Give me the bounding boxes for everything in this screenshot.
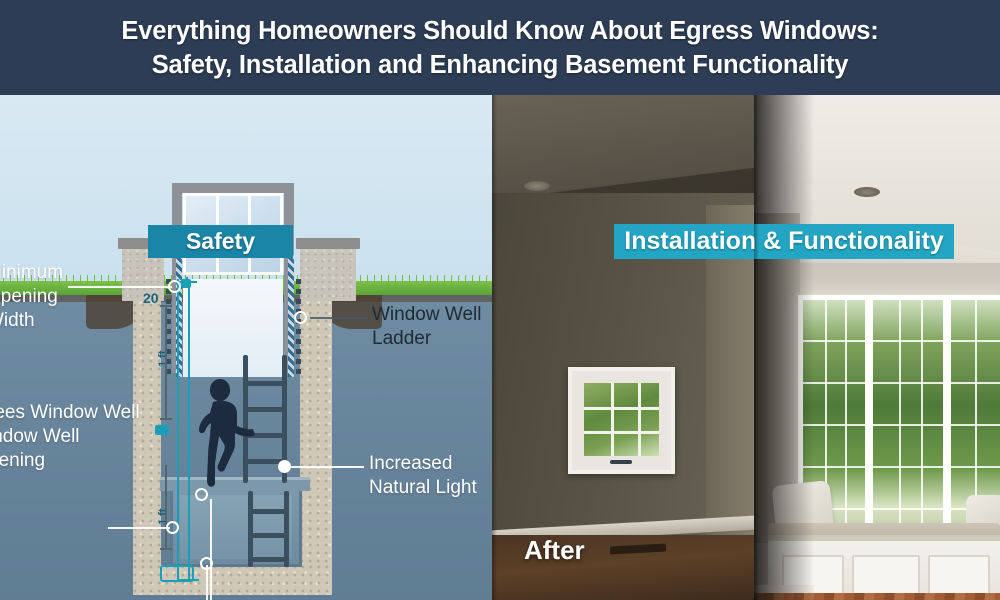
foundation-right	[300, 245, 356, 301]
leader-minimum-opening-width	[68, 286, 172, 288]
window-well-interior	[180, 495, 292, 559]
callout-dot-minimum-opening-width[interactable]	[168, 280, 181, 293]
callout-label-line-3: Width	[0, 309, 63, 333]
gray-dim-rule-lower	[165, 465, 167, 550]
ladder-rung-7	[248, 557, 289, 562]
leader-window-well-vertical	[210, 499, 212, 600]
window-grid-horizontal-1	[584, 407, 659, 410]
badge-installation-functionality: Installation & Functionality	[614, 224, 954, 259]
callout-increased-natural-light: Increased Natural Light	[369, 452, 477, 500]
recessed-light-icon-1	[854, 187, 880, 197]
window-grid-v-3	[899, 300, 901, 535]
leader-window-well-ladder	[310, 317, 368, 319]
leader-window-well-vertical-2	[206, 565, 208, 600]
window-header-beam	[172, 183, 294, 193]
gray-dim-cap-top	[160, 305, 172, 307]
callout-label-line-2: Ladder	[372, 327, 481, 351]
callout-dot-window-well-ladder[interactable]	[294, 311, 307, 324]
ladder-rung-5	[248, 509, 289, 514]
window-grid-v-2	[845, 300, 847, 535]
foundation-cap-right	[296, 238, 360, 249]
panel-divider-2	[754, 95, 759, 600]
callout-dot-window-well-opening[interactable]	[166, 521, 179, 534]
window-grid-vertical-1	[611, 383, 614, 456]
callout-label-line-2: indow Well	[0, 425, 140, 449]
gravel-right	[300, 295, 332, 595]
callout-label-line-1: rees Window Well	[0, 401, 140, 425]
dashed-edge-right	[296, 279, 301, 377]
window-latch-icon	[610, 460, 632, 464]
small-basement-window	[568, 367, 675, 474]
window-mullion-1	[865, 300, 873, 535]
callout-label-line-2: Opening	[0, 285, 63, 309]
callout-dot-window-well[interactable]	[195, 488, 208, 501]
caption-after: After	[524, 535, 585, 566]
dim-vertical-main	[177, 279, 179, 579]
window-grid-horizontal-2	[584, 431, 659, 434]
panels-container: 20 1 ft 1 ft	[0, 95, 1000, 600]
dim-label-height-upper: 1 ft	[157, 351, 169, 368]
infographic-root: Everything Homeowners Should Know About …	[0, 0, 1000, 600]
page-title-line-1: Everything Homeowners Should Know About …	[121, 14, 878, 48]
gray-dim-rule-upper	[165, 305, 167, 420]
dim-vertical-second	[188, 281, 190, 581]
dim-legend-box	[160, 565, 194, 582]
leader-increased-natural-light	[290, 466, 364, 468]
basement-window-opening	[183, 279, 283, 377]
callout-window-well-ladder: Window Well Ladder	[372, 303, 481, 351]
dim-top-cap	[181, 279, 191, 288]
panel-safety-diagram: 20 1 ft 1 ft	[0, 95, 492, 600]
recessed-light-icon	[524, 181, 550, 191]
edge-vignette	[754, 95, 814, 600]
dim-mid-tick	[161, 425, 163, 427]
badge-safety: Safety	[148, 225, 293, 258]
window-grid-h-2	[803, 382, 1000, 384]
callout-label-line-1: Minimum	[0, 261, 63, 285]
ladder-rail-right-lower	[284, 491, 289, 567]
window-grid-vertical-2	[638, 383, 641, 456]
callout-minimum-opening-width: Minimum Opening Width	[0, 261, 63, 333]
window-grid-h-4	[803, 466, 1000, 468]
panel-divider-1	[492, 95, 497, 600]
window-grid-h-3	[803, 424, 1000, 426]
panel-before-photo: After	[492, 95, 754, 600]
callout-label-line-1: Window Well	[372, 303, 481, 327]
person-silhouette-icon	[196, 376, 258, 492]
callout-window-well-opening: rees Window Well indow Well pening	[0, 401, 140, 473]
window-grid-v-4	[921, 300, 923, 535]
gray-dim-cap-bottom	[160, 418, 172, 420]
gray-dim-cap-lower	[160, 548, 172, 550]
window-glass	[584, 383, 659, 456]
ladder-rail-left-lower	[248, 491, 253, 567]
ladder-rung-6	[248, 533, 289, 538]
header-banner: Everything Homeowners Should Know About …	[0, 0, 1000, 95]
window-mullion-2	[943, 300, 951, 535]
callout-label-line-3: pening	[0, 449, 140, 473]
dim-label-opening-width: 20	[143, 290, 159, 306]
window-grid-h-1	[803, 340, 1000, 342]
callout-label-line-1: Increased	[369, 452, 477, 476]
callout-dot-window-well-base[interactable]	[200, 557, 213, 570]
callout-dot-increased-natural-light[interactable]	[278, 460, 291, 473]
panel-after-photo	[754, 95, 1000, 600]
callout-label-line-2: Natural Light	[369, 476, 477, 500]
page-title-line-2: Safety, Installation and Enhancing Basem…	[152, 48, 849, 82]
leader-window-well-opening	[108, 527, 170, 529]
